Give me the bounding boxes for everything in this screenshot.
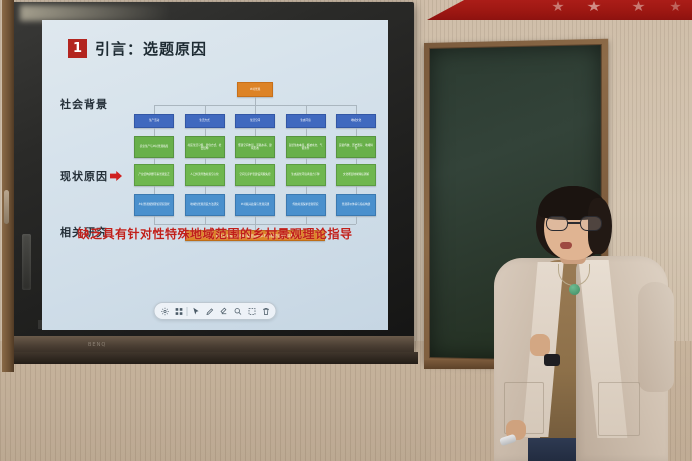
coat-sleeve-right [638,282,674,392]
slide-number-badge: 1 [68,39,87,58]
diagram-node-l4-2: 乡村振兴政策与景观实践 [235,194,275,216]
diagram-node-root: 乡村景观 [237,82,273,97]
connector-line [356,105,357,114]
connector-line [255,105,256,114]
trash-icon[interactable] [260,305,272,317]
eraser-icon[interactable] [218,305,230,317]
speaker-grille [22,234,31,290]
diagram-node-l3-3: 生态退化环境承载力下降 [286,164,326,186]
display-bezel: 1 引言：选题原因 社会背景 现状原因 相关研究 [10,2,414,350]
diagram-node-l4-4: 景观评价体系与指标构建 [336,194,376,216]
glasses-lens-right [580,216,602,231]
connector-line [205,128,206,136]
settings-icon[interactable] [159,305,171,317]
display-stand [8,352,418,364]
connector-line [205,216,206,224]
floor-strip [0,365,430,461]
axis-label-social-background: 社会背景 [60,96,108,112]
diagram-node-l2-1: 村民生活习惯、居住方式、社会结构 [185,136,225,158]
axis-label-text: 社会背景 [60,96,108,112]
interactive-display: 1 引言：选题原因 社会背景 现状原因 相关研究 [2,0,424,378]
connector-line [205,105,206,114]
cursor-icon[interactable] [190,305,202,317]
glasses-icon [546,216,602,231]
diagram-node-l3-2: 空间无序扩张建设风貌失控 [235,164,275,186]
diagram-node-l3-0: 产业结构调整带来景观变迁 [134,164,174,186]
connector-line [306,186,307,194]
bezel-glare [20,5,170,21]
connector-line [255,128,256,136]
magnifier-icon[interactable] [232,305,244,317]
slide-screen[interactable]: 1 引言：选题原因 社会背景 现状原因 相关研究 [42,20,388,330]
red-banner [427,0,692,20]
diagram-node-l4-0: 乡村景观规划理论研究现状 [134,194,174,216]
axis-label-current-reasons: 现状原因 [60,168,122,184]
diagram-node-l2-3: 自然生态本底、植被水文、气候条件 [286,136,326,158]
toolbar-divider [187,307,188,316]
slide-toolbar[interactable] [154,302,277,320]
connector-line [154,105,155,114]
connector-line [255,186,256,194]
star-icon [670,1,681,12]
diagram-node-l1-0: 生产活动 [134,114,174,128]
diagram-node-l1-2: 生活空间 [235,114,275,128]
diagram-node-l2-4: 民俗传统、历史遗存、地域特色 [336,136,376,158]
slide-title-row: 1 引言：选题原因 [68,38,207,59]
diagram-node-l1-4: 地域文化 [336,114,376,128]
hand-left [530,334,550,356]
connector-line [154,186,155,194]
connector-line [356,128,357,136]
pen-icon[interactable] [204,305,216,317]
diagram-node-l4-3: 传统村落保护更新研究 [286,194,326,216]
diagram-node-l1-3: 生态环境 [286,114,326,128]
apps-grid-icon[interactable] [173,305,185,317]
slide-title: 引言：选题原因 [95,38,207,59]
connector-line [154,216,155,224]
connector-line [255,97,256,105]
star-icon [632,1,645,12]
glasses-bridge [568,222,580,224]
connector-line [306,128,307,136]
diagram-node-l3-4: 文化断层地域特征消解 [336,164,376,186]
connector-line [154,128,155,136]
glasses-lens-left [546,216,568,231]
select-area-icon[interactable] [246,305,258,317]
diagram-node-l4-1: 地域性景观营造方法研究 [185,194,225,216]
arrow-right-icon [110,171,122,182]
handle[interactable] [4,190,9,224]
display-brand-label: BENQ [88,342,106,348]
coat-pocket-right [598,382,640,436]
slide-content: 1 引言：选题原因 社会背景 现状原因 相关研究 [42,20,388,330]
connector-line [356,186,357,194]
diagram-node-l2-0: 农业生产与乡村景观格局 [134,136,174,158]
star-icon [587,1,601,12]
mouth [560,242,572,249]
star-icon [552,1,564,12]
connector-line [356,216,357,224]
wristwatch [544,354,560,366]
connector-line [306,216,307,224]
slide-conclusion: 缺乏具有针对性特殊地域范围的乡村景观理论指导 [42,225,388,242]
axis-label-text: 现状原因 [60,168,108,184]
diagram-node-l3-1: 人口外流导致村落空心化 [185,164,225,186]
diagram-node-l1-1: 生活方式 [185,114,225,128]
classroom-scene: 1 引言：选题原因 社会背景 现状原因 相关研究 [0,0,692,461]
wall-side-trim [2,0,14,372]
connector-line [306,105,307,114]
diagram-node-l2-2: 聚落空间布局、道路水系、建筑形态 [235,136,275,158]
presenter [492,186,692,461]
necklace-pendant [569,284,580,295]
connector-line [255,216,256,224]
connector-line [205,186,206,194]
